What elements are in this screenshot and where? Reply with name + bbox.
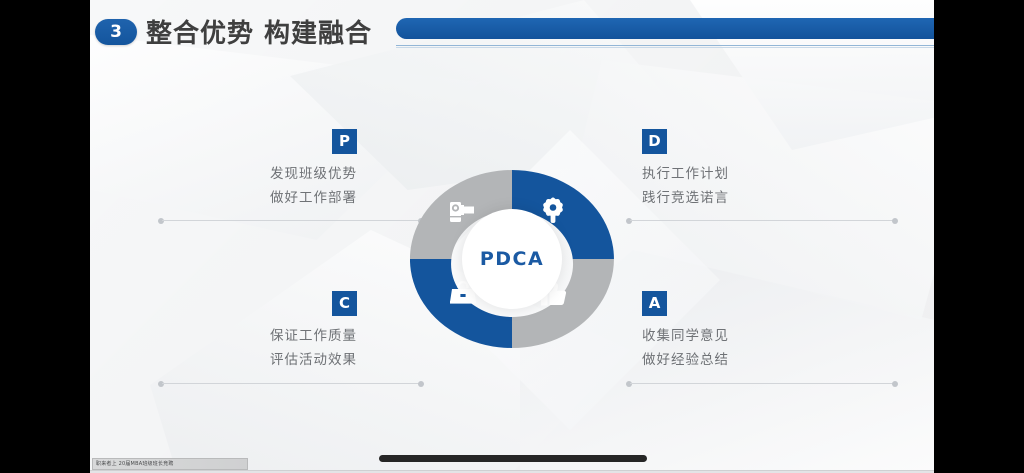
quadrant-line: 执行工作计划 <box>642 162 729 186</box>
connector-bar <box>162 220 420 221</box>
quadrant-text-p: 发现班级优势 做好工作部署 <box>270 162 357 210</box>
quadrant-line: 收集同学意见 <box>642 324 729 348</box>
connector-line-a <box>626 379 898 388</box>
connector-dot <box>418 381 424 387</box>
header-rule <box>396 45 934 46</box>
projector-icon <box>447 199 477 225</box>
quadrant-line: 做好工作部署 <box>270 186 357 210</box>
connector-line-c <box>158 379 424 388</box>
pdca-center-label: PDCA <box>480 248 544 270</box>
quadrant-line: 践行竞选诺言 <box>642 186 729 210</box>
quadrant-block-c: C 保证工作质量 评估活动效果 <box>270 291 357 372</box>
pdca-center-hub: PDCA <box>462 209 562 309</box>
connector-bar <box>162 383 420 384</box>
connector-dot <box>892 381 898 387</box>
quadrant-line: 评估活动效果 <box>270 348 357 372</box>
quadrant-line: 保证工作质量 <box>270 324 357 348</box>
connector-line-p <box>158 216 424 225</box>
quadrant-letter-p: P <box>332 129 357 154</box>
quadrant-text-d: 执行工作计划 践行竞选诺言 <box>642 162 729 210</box>
quadrant-block-d: D 执行工作计划 践行竞选诺言 <box>642 129 729 210</box>
quadrant-line: 做好经验总结 <box>642 348 729 372</box>
quadrant-letter-d: D <box>642 129 667 154</box>
video-progress-bar[interactable] <box>379 455 647 462</box>
quadrant-text-a: 收集同学意见 做好经验总结 <box>642 324 729 372</box>
quadrant-letter-c: C <box>332 291 357 316</box>
quadrant-letter-a: A <box>642 291 667 316</box>
connector-line-d <box>626 216 898 225</box>
watermark-caption: 职来者上 20届MBA班级班长竞聘 <box>92 458 248 470</box>
header-rule-secondary <box>396 47 934 48</box>
page-title: 整合优势 构建融合 <box>146 13 372 50</box>
slide-header: 3 整合优势 构建融合 <box>90 0 934 56</box>
quadrant-block-p: P 发现班级优势 做好工作部署 <box>270 129 357 210</box>
connector-dot <box>892 218 898 224</box>
presentation-slide: 3 整合优势 构建融合 P <box>90 0 934 473</box>
quadrant-text-c: 保证工作质量 评估活动效果 <box>270 324 357 372</box>
quadrant-line: 发现班级优势 <box>270 162 357 186</box>
quadrant-block-a: A 收集同学意见 做好经验总结 <box>642 291 729 372</box>
video-player: 3 整合优势 构建融合 P <box>0 0 1024 473</box>
header-accent-bar <box>396 18 934 39</box>
connector-bar <box>630 220 894 221</box>
pdca-cycle-diagram: PDCA <box>410 170 614 348</box>
connector-bar <box>630 383 894 384</box>
section-number-badge: 3 <box>95 19 137 45</box>
background-facet <box>560 60 934 320</box>
